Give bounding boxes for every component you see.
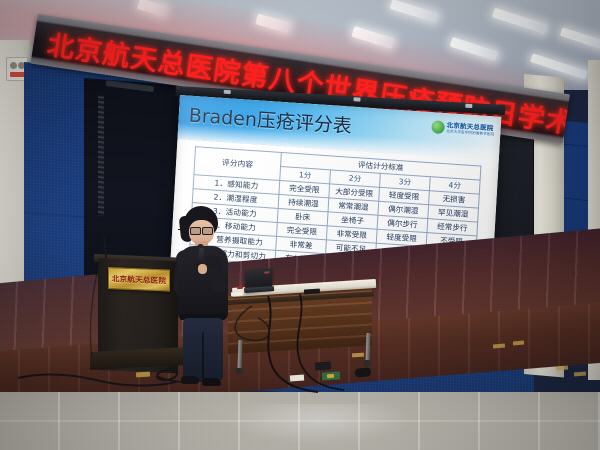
floor-tape-marker: [574, 371, 586, 376]
presenter-glasses-bridge: [178, 229, 182, 230]
presenter-hand: [198, 264, 207, 274]
ceiling-light-icon: [390, 0, 439, 23]
floor-tape-marker: [352, 353, 364, 358]
presenter-glasses-icon: [189, 227, 214, 234]
hospital-logo-text: 北京航天总医院 北京大学医学院附属教学医院: [446, 122, 495, 137]
floor-reflection: [230, 404, 410, 444]
floor-tape-marker: [136, 372, 150, 378]
floor-green-device: [322, 371, 341, 380]
conference-hall-photo: · · · 北京航天总医院第八个世界压疮预防日学术研讨会 Braden压疮评分表…: [0, 0, 600, 450]
presenter-shoe: [202, 378, 221, 386]
floor-paper-scrap: [290, 375, 304, 382]
podium-plaque: 北京航天总医院: [108, 267, 170, 292]
presenter-leg-seam: [202, 332, 204, 378]
presenter-shoe: [181, 376, 199, 384]
av-adapter-box: [304, 289, 320, 295]
screen-mount-bracket: [224, 90, 231, 94]
floor-equipment-box: [315, 361, 332, 370]
screen-mount-bracket: [465, 104, 472, 108]
screen-mount-bracket: [353, 97, 360, 101]
speaker-grille-icon: [98, 96, 104, 216]
podium-plaque-text: 北京航天总医院: [112, 273, 167, 286]
hospital-logo-mark-icon: [431, 120, 445, 134]
desk-caster: [363, 360, 371, 366]
ceiling-light-icon: [560, 27, 600, 50]
laptop-logo-icon: [264, 271, 269, 274]
presenter: [168, 206, 240, 391]
floor-tape-marker: [556, 365, 568, 370]
ceiling-light-icon: [492, 8, 548, 35]
